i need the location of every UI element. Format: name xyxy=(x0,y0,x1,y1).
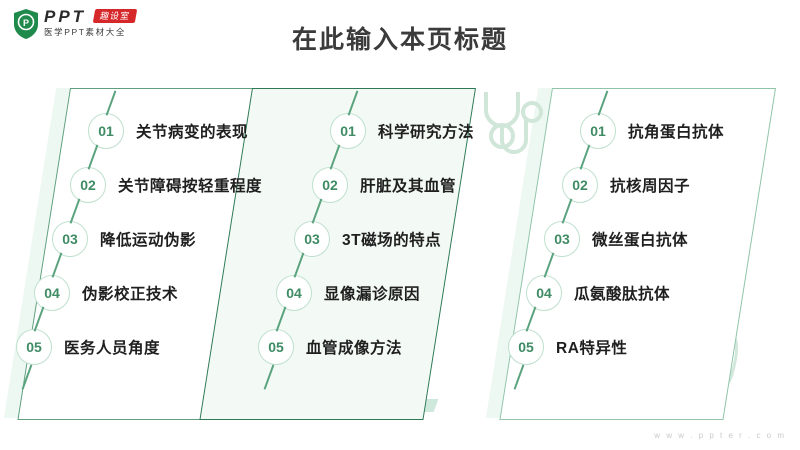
item-label: 降低运动伪影 xyxy=(100,228,196,250)
item-label: 抗核周因子 xyxy=(610,174,690,196)
item-label: 肝脏及其血管 xyxy=(360,174,456,196)
list-item[interactable]: 04显像漏诊原因 xyxy=(276,276,420,310)
list-item[interactable]: 02关节障碍按轻重程度 xyxy=(70,168,262,202)
connector-dash xyxy=(348,91,358,116)
item-number-badge: 01 xyxy=(88,113,124,149)
list-column-1: 01关节病变的表现02关节障碍按轻重程度03降低运动伪影04伪影校正技术05医务… xyxy=(48,88,298,418)
list-column-2: 01科学研究方法02肝脏及其血管033T磁场的特点04显像漏诊原因05血管成像方… xyxy=(290,88,540,418)
item-number-badge: 03 xyxy=(294,221,330,257)
item-label: 关节病变的表现 xyxy=(136,120,248,142)
connector-dash xyxy=(598,91,608,116)
connector-dash xyxy=(70,199,80,224)
connector-dash xyxy=(52,253,62,278)
slide-canvas: P PPT 趣设室 医学PPT素材大全 在此输入本页标题 01关节病变的表现02… xyxy=(0,0,800,450)
list-item[interactable]: 02肝脏及其血管 xyxy=(312,168,456,202)
item-number-badge: 02 xyxy=(312,167,348,203)
list-item[interactable]: 04瓜氨酸肽抗体 xyxy=(526,276,670,310)
item-label: 瓜氨酸肽抗体 xyxy=(574,282,670,304)
item-label: 血管成像方法 xyxy=(306,336,402,358)
watermark: w w w . p p t e r . c o m xyxy=(654,431,786,440)
connector-dash xyxy=(330,145,340,170)
item-number-badge: 02 xyxy=(70,167,106,203)
item-label: 关节障碍按轻重程度 xyxy=(118,174,262,196)
list-item[interactable]: 03微丝蛋白抗体 xyxy=(544,222,688,256)
list-item[interactable]: 01科学研究方法 xyxy=(330,114,474,148)
connector-dash xyxy=(312,199,322,224)
list-item[interactable]: 04伪影校正技术 xyxy=(34,276,178,310)
list-column-3: 01抗角蛋白抗体02抗核周因子03微丝蛋白抗体04瓜氨酸肽抗体05RA特异性 xyxy=(540,88,790,418)
item-number-badge: 01 xyxy=(330,113,366,149)
list-item[interactable]: 05医务人员角度 xyxy=(16,330,160,364)
page-title: 在此输入本页标题 xyxy=(0,20,800,56)
connector-dash xyxy=(544,253,554,278)
item-label: 伪影校正技术 xyxy=(82,282,178,304)
item-number-badge: 01 xyxy=(580,113,616,149)
connector-dash xyxy=(580,145,590,170)
list-item[interactable]: 03降低运动伪影 xyxy=(52,222,196,256)
list-item[interactable]: 01关节病变的表现 xyxy=(88,114,248,148)
list-item[interactable]: 033T磁场的特点 xyxy=(294,222,441,256)
item-label: 3T磁场的特点 xyxy=(342,228,441,250)
item-number-badge: 03 xyxy=(52,221,88,257)
item-number-badge: 04 xyxy=(34,275,70,311)
item-number-badge: 04 xyxy=(276,275,312,311)
item-label: 科学研究方法 xyxy=(378,120,474,142)
list-item[interactable]: 01抗角蛋白抗体 xyxy=(580,114,724,148)
connector-dash xyxy=(294,253,304,278)
list-item[interactable]: 05RA特异性 xyxy=(508,330,627,364)
list-item[interactable]: 05血管成像方法 xyxy=(258,330,402,364)
item-number-badge: 03 xyxy=(544,221,580,257)
item-number-badge: 04 xyxy=(526,275,562,311)
connector-dash xyxy=(88,145,98,170)
item-label: 微丝蛋白抗体 xyxy=(592,228,688,250)
connector-dash xyxy=(106,91,116,116)
item-label: RA特异性 xyxy=(556,336,627,358)
list-item[interactable]: 02抗核周因子 xyxy=(562,168,690,202)
item-number-badge: 05 xyxy=(508,329,544,365)
item-number-badge: 05 xyxy=(258,329,294,365)
item-label: 医务人员角度 xyxy=(64,336,160,358)
connector-dash xyxy=(562,199,572,224)
item-number-badge: 05 xyxy=(16,329,52,365)
item-label: 抗角蛋白抗体 xyxy=(628,120,724,142)
item-number-badge: 02 xyxy=(562,167,598,203)
item-label: 显像漏诊原因 xyxy=(324,282,420,304)
